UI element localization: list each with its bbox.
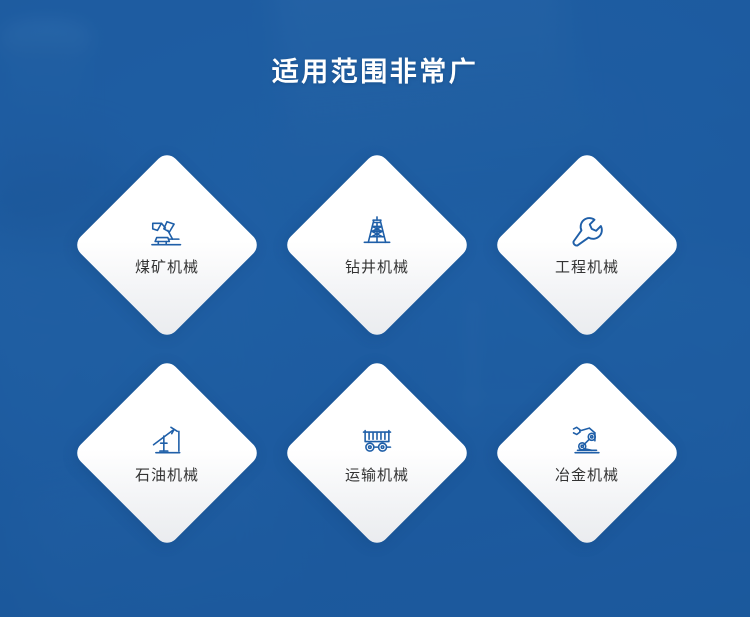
coal-mining-machine-icon — [147, 212, 187, 252]
robot-arm-icon — [567, 420, 607, 460]
promo-banner: 适用范围非常广 煤矿 — [0, 0, 750, 617]
category-label: 冶金机械 — [555, 466, 619, 486]
drilling-derrick-icon — [357, 212, 397, 252]
wrench-icon — [567, 212, 607, 252]
category-label: 石油机械 — [135, 466, 199, 486]
category-grid: 煤矿机械 — [0, 0, 750, 617]
category-card-coal-mining[interactable]: 煤矿机械 — [72, 150, 262, 340]
category-card-metallurgy[interactable]: 冶金机械 — [492, 358, 682, 548]
category-card-transport[interactable]: 运输机械 — [282, 358, 472, 548]
category-label: 工程机械 — [555, 258, 619, 278]
category-card-petroleum[interactable]: 石油机械 — [72, 358, 262, 548]
category-label: 运输机械 — [345, 466, 409, 486]
mine-cart-icon — [357, 420, 397, 460]
page-title: 适用范围非常广 — [0, 52, 750, 92]
category-label: 煤矿机械 — [135, 258, 199, 278]
category-card-drilling[interactable]: 钻井机械 — [282, 150, 472, 340]
category-label: 钻井机械 — [345, 258, 409, 278]
category-card-engineering[interactable]: 工程机械 — [492, 150, 682, 340]
oil-pumpjack-icon — [147, 420, 187, 460]
